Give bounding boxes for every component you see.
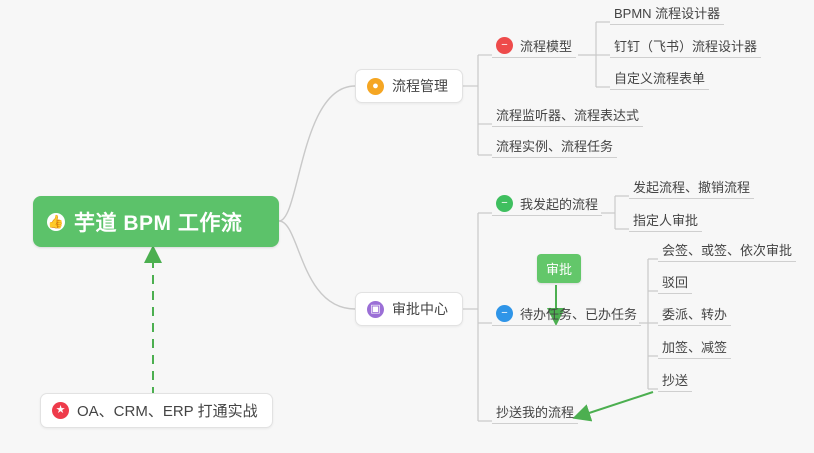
node-custom-form-label: 自定义流程表单 xyxy=(614,68,705,87)
node-process-instance[interactable]: 流程实例、流程任务 xyxy=(492,138,617,158)
mindmap-canvas: 👍 芋道 BPM 工作流 ● 流程管理 − 流程模型 流程监听器、流程表达式 流… xyxy=(0,0,814,453)
thumbs-up-icon: 👍 xyxy=(47,213,65,231)
node-countersign[interactable]: 会签、或签、依次审批 xyxy=(658,242,796,262)
callout-integration[interactable]: ★ OA、CRM、ERP 打通实战 xyxy=(40,393,273,428)
branch-approval-center[interactable]: ▣ 审批中心 xyxy=(355,292,463,326)
minus-circle-icon: − xyxy=(496,37,513,54)
tag-approval[interactable]: 审批 xyxy=(537,254,581,283)
branch-process-management-label: 流程管理 xyxy=(392,76,448,96)
root-node-label: 芋道 BPM 工作流 xyxy=(74,207,242,237)
node-dingtalk-designer-label: 钉钉（飞书）流程设计器 xyxy=(614,36,757,55)
node-delegate-transfer[interactable]: 委派、转办 xyxy=(658,306,731,326)
node-countersign-label: 会签、或签、依次审批 xyxy=(662,240,792,259)
node-reject-label: 驳回 xyxy=(662,272,688,291)
node-start-cancel-process[interactable]: 发起流程、撤销流程 xyxy=(629,179,754,199)
node-process-model[interactable]: − 流程模型 xyxy=(492,38,576,58)
node-delegate-transfer-label: 委派、转办 xyxy=(662,304,727,323)
minus-circle-icon: − xyxy=(496,195,513,212)
node-cc[interactable]: 抄送 xyxy=(658,372,692,392)
callout-integration-label: OA、CRM、ERP 打通实战 xyxy=(77,400,258,421)
node-assign-approver-label: 指定人审批 xyxy=(633,210,698,229)
minus-circle-icon: − xyxy=(496,305,513,322)
branch-process-management[interactable]: ● 流程管理 xyxy=(355,69,463,103)
node-start-cancel-process-label: 发起流程、撤销流程 xyxy=(633,177,750,196)
node-process-model-label: 流程模型 xyxy=(520,36,572,55)
node-process-listener[interactable]: 流程监听器、流程表达式 xyxy=(492,107,643,127)
star-icon: ★ xyxy=(52,402,69,419)
node-add-remove-sign-label: 加签、减签 xyxy=(662,337,727,356)
node-custom-form[interactable]: 自定义流程表单 xyxy=(610,70,709,90)
node-assign-approver[interactable]: 指定人审批 xyxy=(629,212,702,232)
node-todo-done-tasks[interactable]: − 待办任务、已办任务 xyxy=(492,306,641,326)
node-bpmn-designer-label: BPMN 流程设计器 xyxy=(614,3,720,22)
branch-approval-center-label: 审批中心 xyxy=(392,299,448,319)
node-reject[interactable]: 驳回 xyxy=(658,274,692,294)
node-cc-to-me-label: 抄送我的流程 xyxy=(496,402,574,421)
node-my-initiated-label: 我发起的流程 xyxy=(520,194,598,213)
node-add-remove-sign[interactable]: 加签、减签 xyxy=(658,339,731,359)
node-process-instance-label: 流程实例、流程任务 xyxy=(496,136,613,155)
node-bpmn-designer[interactable]: BPMN 流程设计器 xyxy=(610,5,724,25)
location-pin-icon: ● xyxy=(367,78,384,95)
root-node[interactable]: 👍 芋道 BPM 工作流 xyxy=(33,196,279,247)
mail-icon: ▣ xyxy=(367,301,384,318)
node-process-listener-label: 流程监听器、流程表达式 xyxy=(496,105,639,124)
tag-approval-label: 审批 xyxy=(546,262,572,277)
node-cc-to-me[interactable]: 抄送我的流程 xyxy=(492,404,578,424)
node-dingtalk-designer[interactable]: 钉钉（飞书）流程设计器 xyxy=(610,38,761,58)
node-todo-done-tasks-label: 待办任务、已办任务 xyxy=(520,304,637,323)
node-my-initiated[interactable]: − 我发起的流程 xyxy=(492,196,602,216)
node-cc-label: 抄送 xyxy=(662,370,688,389)
